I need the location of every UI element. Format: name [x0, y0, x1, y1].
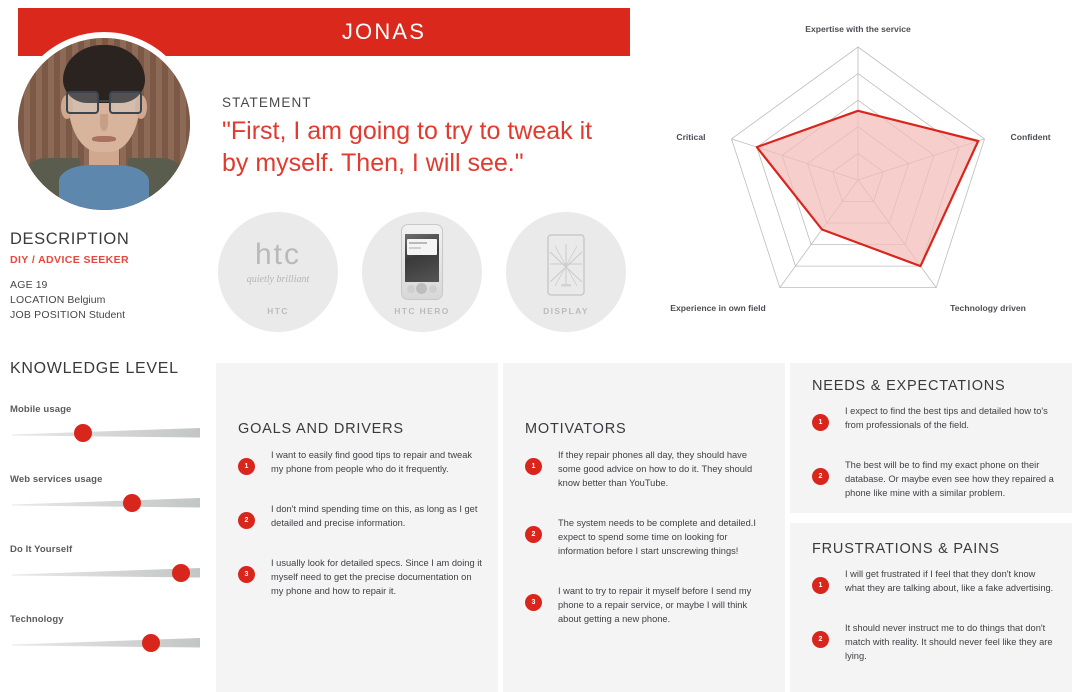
item-text: I will get frustrated if I feel that the… [845, 568, 1056, 596]
skill-track[interactable] [12, 496, 200, 510]
description-line-value: 19 [36, 279, 48, 291]
item-number-badge: 1 [812, 414, 829, 431]
skill-label: Technology [10, 614, 210, 625]
statement-block: STATEMENT "First, I am going to try to t… [222, 95, 622, 179]
panel-needs-and-expectations: NEEDS & EXPECTATIONS 1I expect to find t… [790, 363, 1072, 513]
avatar-shirt [59, 165, 148, 210]
device-circle-hero: HTC HERO [362, 212, 482, 332]
avatar-mouth [92, 136, 116, 142]
frustrations-item-list: 1I will get frustrated if I feel that th… [812, 568, 1056, 690]
list-item: 2The system needs to be complete and det… [525, 517, 769, 559]
statement-label: STATEMENT [222, 95, 622, 110]
item-text: It should never instruct me to do things… [845, 622, 1056, 664]
description-block: DESCRIPTION DIY / ADVICE SEEKER AGE 19LO… [10, 230, 210, 323]
radar-axis-label: Confident [1010, 132, 1050, 142]
item-number-badge: 2 [238, 512, 255, 529]
list-item: 1If they repair phones all day, they sho… [525, 449, 769, 491]
item-text: I don't mind spending time on this, as l… [271, 503, 482, 531]
list-item: 1I want to easily find good tips to repa… [238, 449, 482, 477]
description-title: DESCRIPTION [10, 230, 210, 249]
item-text: The best will be to find my exact phone … [845, 459, 1056, 501]
item-number-badge: 2 [812, 468, 829, 485]
list-item: 2I don't mind spending time on this, as … [238, 503, 482, 531]
goals-item-list: 1I want to easily find good tips to repa… [238, 449, 482, 625]
avatar-nose [100, 114, 109, 131]
item-number-badge: 1 [812, 577, 829, 594]
description-line-key: JOB POSITION [10, 309, 86, 321]
panel-title: FRUSTRATIONS & PAINS [812, 541, 1000, 557]
item-number-badge: 2 [525, 526, 542, 543]
device-circle-htc: htc quietly brilliant HTC [218, 212, 338, 332]
item-number-badge: 2 [812, 631, 829, 648]
skill-track[interactable] [12, 426, 200, 440]
htc-logo-icon: htc quietly brilliant [218, 238, 338, 285]
device-caption: HTC HERO [362, 306, 482, 316]
list-item: 1I expect to find the best tips and deta… [812, 405, 1056, 433]
radar-axis-label: Critical [676, 132, 705, 142]
panel-title: GOALS AND DRIVERS [238, 421, 404, 437]
panel-frustrations-and-pains: FRUSTRATIONS & PAINS 1I will get frustra… [790, 523, 1072, 692]
description-line-key: LOCATION [10, 294, 65, 306]
item-text: I usually look for detailed specs. Since… [271, 557, 482, 599]
panel-title: NEEDS & EXPECTATIONS [812, 378, 1006, 394]
panel-goals-and-drivers: GOALS AND DRIVERS 1I want to easily find… [216, 363, 498, 692]
knowledge-level-title: KNOWLEDGE LEVEL [10, 360, 210, 378]
description-line-value: Student [89, 309, 125, 321]
description-line-key: AGE [10, 279, 33, 291]
description-line-value: Belgium [67, 294, 105, 306]
item-number-badge: 1 [238, 458, 255, 475]
skill-label: Web services usage [10, 474, 210, 485]
glasses-icon [66, 91, 142, 113]
avatar [12, 32, 196, 216]
device-caption: HTC [218, 306, 338, 316]
cracked-screen-icon [547, 234, 585, 296]
radar-axis-label: Technology driven [950, 303, 1026, 313]
skill-label: Mobile usage [10, 404, 210, 415]
item-number-badge: 3 [238, 566, 255, 583]
htc-brand-text: htc [218, 238, 338, 272]
description-line: AGE 19 [10, 278, 210, 293]
skill-slider-1[interactable]: Mobile usage [10, 404, 210, 448]
radar-axis-label: Experience in own field [670, 303, 766, 313]
htc-tagline-text: quietly brilliant [218, 274, 338, 285]
statement-quote: "First, I am going to try to tweak it by… [222, 116, 622, 179]
description-attribute-list: AGE 19LOCATION BelgiumJOB POSITION Stude… [10, 278, 210, 323]
description-tagline: DIY / ADVICE SEEKER [10, 254, 210, 266]
skill-slider-3[interactable]: Do It Yourself [10, 544, 210, 588]
item-text: The system needs to be complete and deta… [558, 517, 769, 559]
item-text: I expect to find the best tips and detai… [845, 405, 1056, 433]
description-line: LOCATION Belgium [10, 293, 210, 308]
device-caption: DISPLAY [506, 306, 626, 316]
radar-chart: Expertise with the serviceConfidentTechn… [672, 8, 1072, 338]
list-item: 2It should never instruct me to do thing… [812, 622, 1056, 664]
list-item: 1I will get frustrated if I feel that th… [812, 568, 1056, 596]
item-text: I want to try to repair it myself before… [558, 585, 769, 627]
skill-track[interactable] [12, 636, 200, 650]
list-item: 3I usually look for detailed specs. Sinc… [238, 557, 482, 599]
device-circle-display: DISPLAY [506, 212, 626, 332]
knowledge-level-block: KNOWLEDGE LEVEL Mobile usageWeb services… [10, 360, 210, 658]
panel-title: MOTIVATORS [525, 421, 626, 437]
list-item: 3I want to try to repair it myself befor… [525, 585, 769, 627]
motivators-item-list: 1If they repair phones all day, they sho… [525, 449, 769, 652]
smartphone-icon [401, 224, 443, 300]
skill-slider-4[interactable]: Technology [10, 614, 210, 658]
needs-item-list: 1I expect to find the best tips and deta… [812, 405, 1056, 527]
item-number-badge: 1 [525, 458, 542, 475]
skill-slider-2[interactable]: Web services usage [10, 474, 210, 518]
description-line: JOB POSITION Student [10, 308, 210, 323]
skill-slider-list: Mobile usageWeb services usageDo It Your… [10, 404, 210, 658]
item-text: I want to easily find good tips to repai… [271, 449, 482, 477]
list-item: 2The best will be to find my exact phone… [812, 459, 1056, 501]
skill-label: Do It Yourself [10, 544, 210, 555]
item-number-badge: 3 [525, 594, 542, 611]
panel-motivators: MOTIVATORS 1If they repair phones all da… [503, 363, 785, 692]
radar-axis-label: Expertise with the service [805, 24, 911, 34]
skill-knob[interactable] [142, 634, 160, 652]
item-text: If they repair phones all day, they shou… [558, 449, 769, 491]
